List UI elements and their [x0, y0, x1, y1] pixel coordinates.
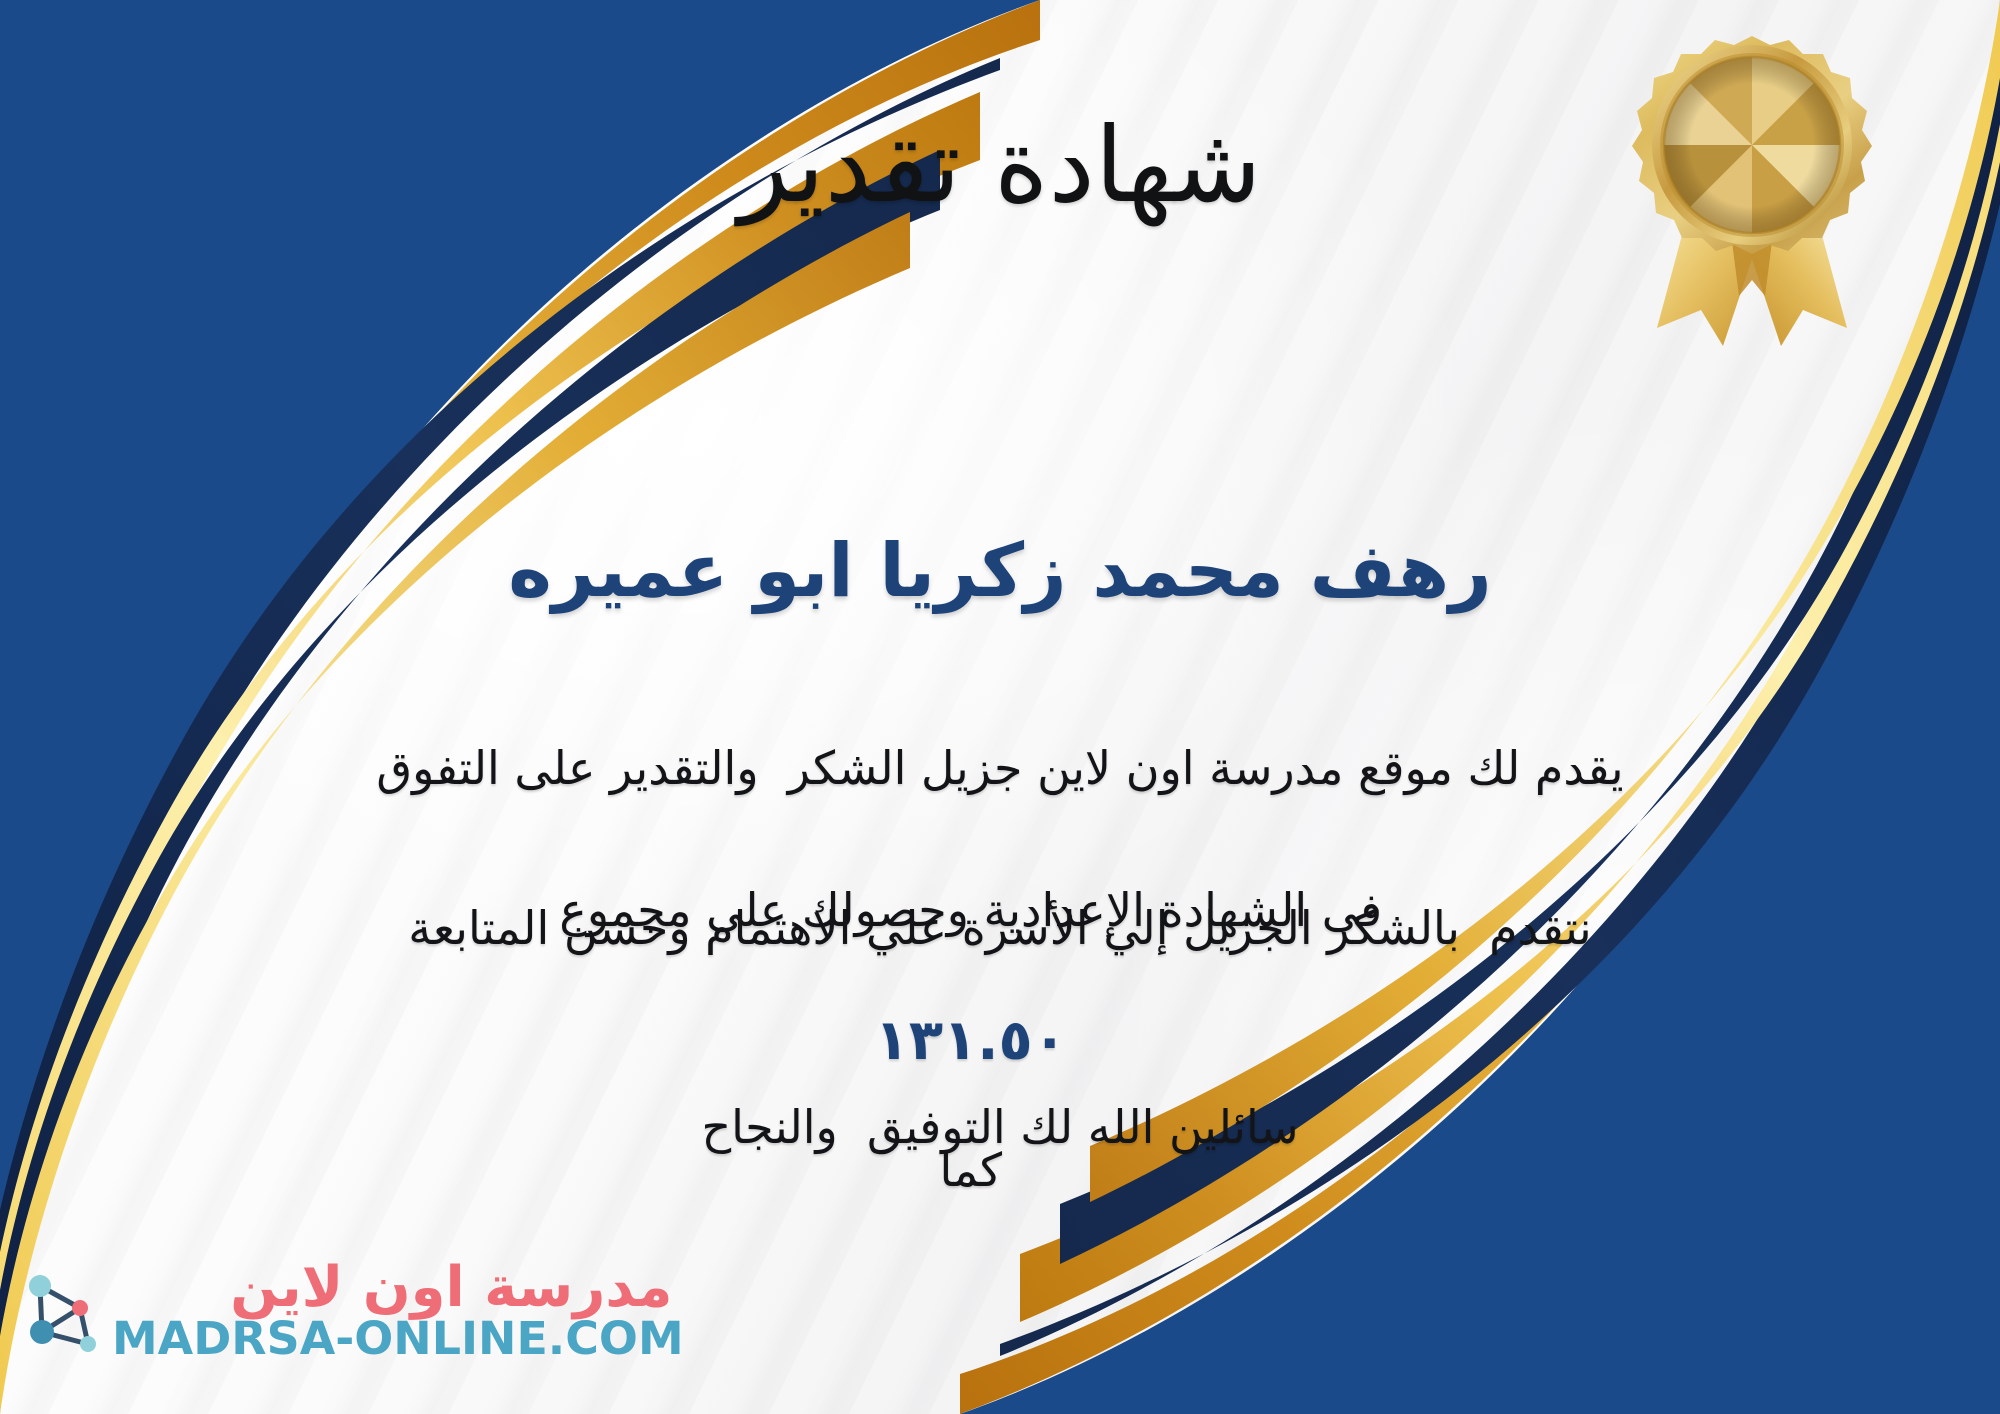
body-text-line-2: فى الشهادة الإعدادية وحصولك على مجموع ١٣…: [40, 818, 1960, 1263]
recipient-name: رهف محمد زكريا ابو عميره: [0, 527, 2000, 616]
node-bottom-left: [30, 1320, 54, 1344]
certificate-title: شهادة تقدير: [0, 104, 2000, 227]
certificate-page: شهادة تقدير رهف محمد زكريا ابو عميره يقد…: [0, 0, 2000, 1414]
logo-domain-text: MADRSA-ONLINE.COM: [112, 1316, 684, 1361]
network-nodes-icon: [18, 1260, 104, 1360]
site-logo[interactable]: مدرسة اون لاين MADRSA-ONLINE.COM: [18, 1242, 488, 1378]
body-text-line-3: نتقدم بالشكر الجزيل إلي الأسرة علي الاهت…: [40, 898, 1960, 960]
node-top-left: [29, 1275, 51, 1297]
logo-arabic-name: مدرسة اون لاين: [230, 1260, 672, 1316]
total-score-value: ١٣١.٥٠: [875, 1008, 1067, 1073]
closing-wish-line: سائلين الله لك التوفيق والنجاح: [0, 1100, 2000, 1154]
node-bottom-right: [80, 1336, 96, 1352]
node-middle-right: [72, 1300, 88, 1316]
body-text-line-1: يقدم لك موقع مدرسة اون لاين جزيل الشكر و…: [40, 738, 1960, 800]
